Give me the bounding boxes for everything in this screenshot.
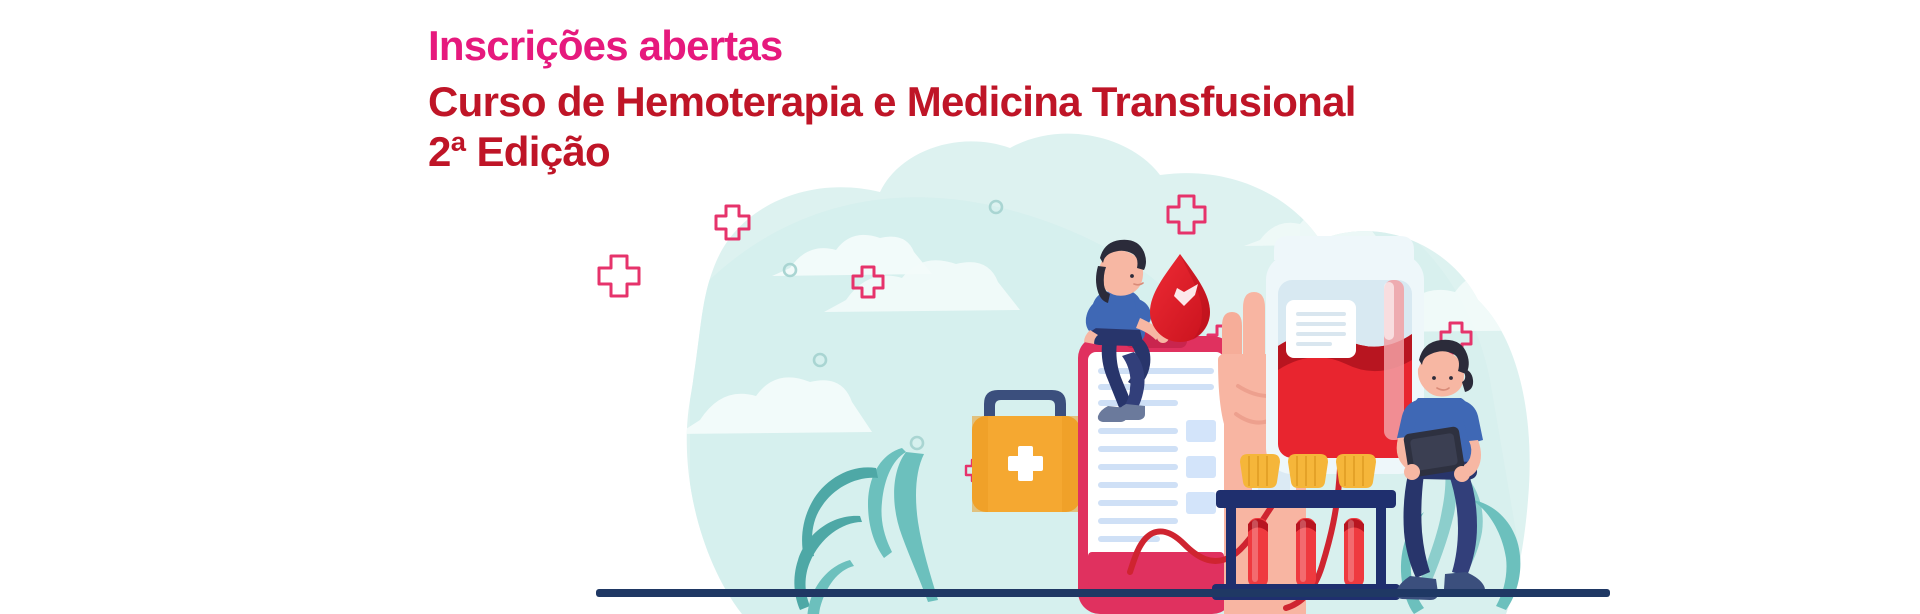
sample-tube <box>1248 518 1364 588</box>
sample-cap <box>1240 454 1376 488</box>
bag-label <box>1286 300 1356 358</box>
clipboard-form <box>1078 330 1234 614</box>
headline-block: Inscrições abertas Curso de Hemoterapia … <box>428 24 1568 177</box>
paper-block <box>1186 420 1216 514</box>
promo-banner: Inscrições abertas Curso de Hemoterapia … <box>0 0 1920 614</box>
ground-line <box>596 589 1610 597</box>
course-title-line-2: 2ª Edição <box>428 127 1568 177</box>
course-title-line-1: Curso de Hemoterapia e Medicina Transfus… <box>428 77 1568 127</box>
kicker-text: Inscrições abertas <box>428 24 1568 69</box>
